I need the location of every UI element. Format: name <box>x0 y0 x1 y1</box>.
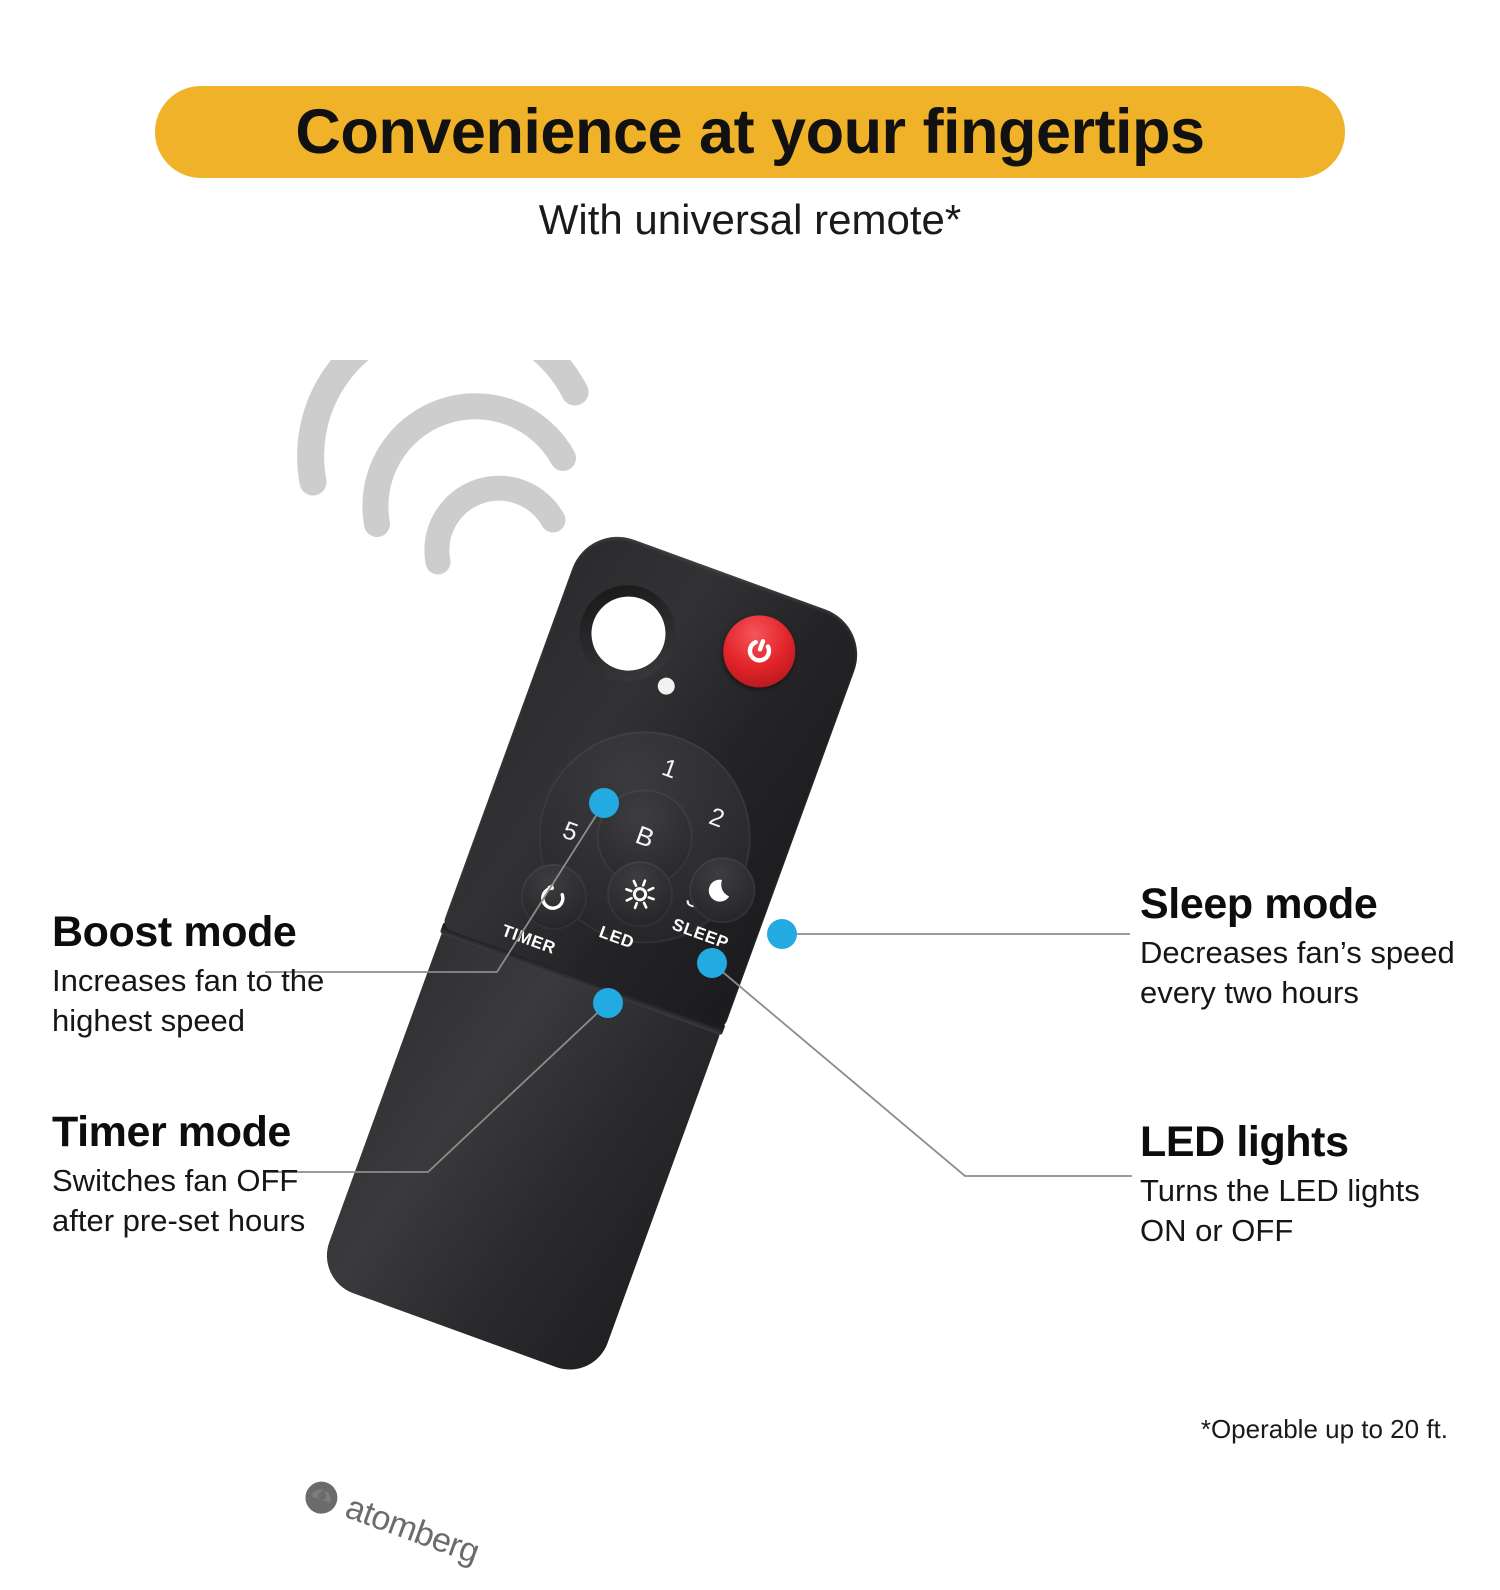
callout-description-line1: Decreases fan’s speed <box>1140 935 1455 970</box>
power-button[interactable] <box>713 605 805 697</box>
callout-led-lights: LED lights Turns the LED lights ON or OF… <box>1140 1118 1420 1250</box>
callout-description: Increases fan to the highest speed <box>52 961 324 1040</box>
callout-title: Sleep mode <box>1140 880 1455 929</box>
callout-description: Turns the LED lights ON or OFF <box>1140 1171 1420 1250</box>
page-title: Convenience at your fingertips <box>295 96 1204 168</box>
moon-icon <box>701 868 745 912</box>
callout-description: Switches fan OFF after pre-set hours <box>52 1161 305 1240</box>
atomberg-mark-icon <box>299 1474 345 1520</box>
page-subtitle: With universal remote* <box>0 196 1500 244</box>
timer-icon <box>532 875 576 919</box>
callout-sleep-mode: Sleep mode Decreases fan’s speed every t… <box>1140 880 1455 1012</box>
power-icon <box>736 628 782 674</box>
brand-name: atomberg <box>340 1488 484 1572</box>
footnote: *Operable up to 20 ft. <box>1201 1414 1448 1445</box>
callout-description-line1: Turns the LED lights <box>1140 1173 1420 1208</box>
callout-description-line2: every two hours <box>1140 975 1359 1010</box>
remote-control-image: atomberg 1 2 3 4 5 B <box>430 555 1030 1415</box>
callout-description-line2: highest speed <box>52 1003 245 1038</box>
callout-title: LED lights <box>1140 1118 1420 1167</box>
callout-title: Boost mode <box>52 908 324 957</box>
callout-title: Timer mode <box>52 1108 305 1157</box>
callout-description: Decreases fan’s speed every two hours <box>1140 933 1455 1012</box>
brightness-icon <box>618 872 662 916</box>
callout-description-line2: after pre-set hours <box>52 1203 305 1238</box>
callout-description-line1: Switches fan OFF <box>52 1163 298 1198</box>
callout-boost-mode: Boost mode Increases fan to the highest … <box>52 908 324 1040</box>
header-banner: Convenience at your fingertips <box>155 86 1345 178</box>
ir-indicator-led <box>655 675 677 697</box>
callout-description-line2: ON or OFF <box>1140 1213 1293 1248</box>
callout-description-line1: Increases fan to the <box>52 963 324 998</box>
callout-timer-mode: Timer mode Switches fan OFF after pre-se… <box>52 1108 305 1240</box>
remote-body: atomberg 1 2 3 4 5 B <box>315 523 871 1377</box>
atomberg-logo: atomberg <box>298 1473 484 1573</box>
